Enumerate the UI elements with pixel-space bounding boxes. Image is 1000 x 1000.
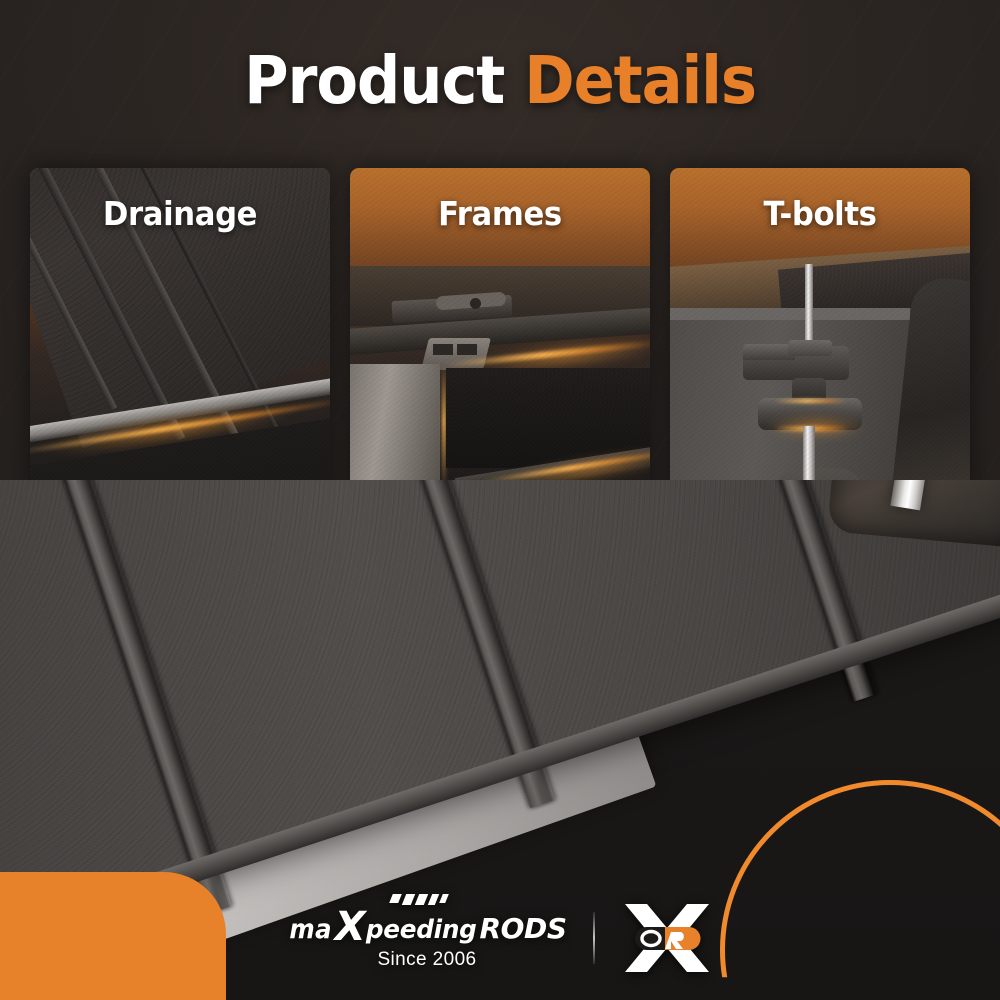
brand-divider [593,912,595,964]
oxr-logo[interactable] [621,902,713,974]
page-title: Product Details [0,48,1000,114]
title-text: Product Details [40,48,960,114]
brand-bar: maXpeedingRODS Since 2006 [0,898,1000,978]
brand-tagline: Since 2006 [377,949,476,971]
panel-label-tbolts: T-bolts [681,194,960,233]
product-details-graphic: Product Details [0,0,1000,1000]
maxpeedingrods-wordmark: maXpeedingRODS [287,905,566,945]
maxpeedingrods-logo[interactable]: maXpeedingRODS Since 2006 [287,905,566,971]
wordmark-peeding: peeding [366,917,477,943]
wordmark-ma: ma [290,916,333,943]
tbolt-glow-top [774,399,848,403]
wordmark-rods: RODS [479,915,566,943]
wordmark-x: X [335,907,365,947]
title-word-product: Product [244,42,504,119]
truck-cab [710,480,1000,610]
panel-label-frames: Frames [361,194,640,233]
speed-streaks-icon [391,894,447,905]
panel-label-drainage: Drainage [41,194,320,233]
title-word-details: Details [524,42,756,119]
oxr-logo-icon [621,902,713,974]
